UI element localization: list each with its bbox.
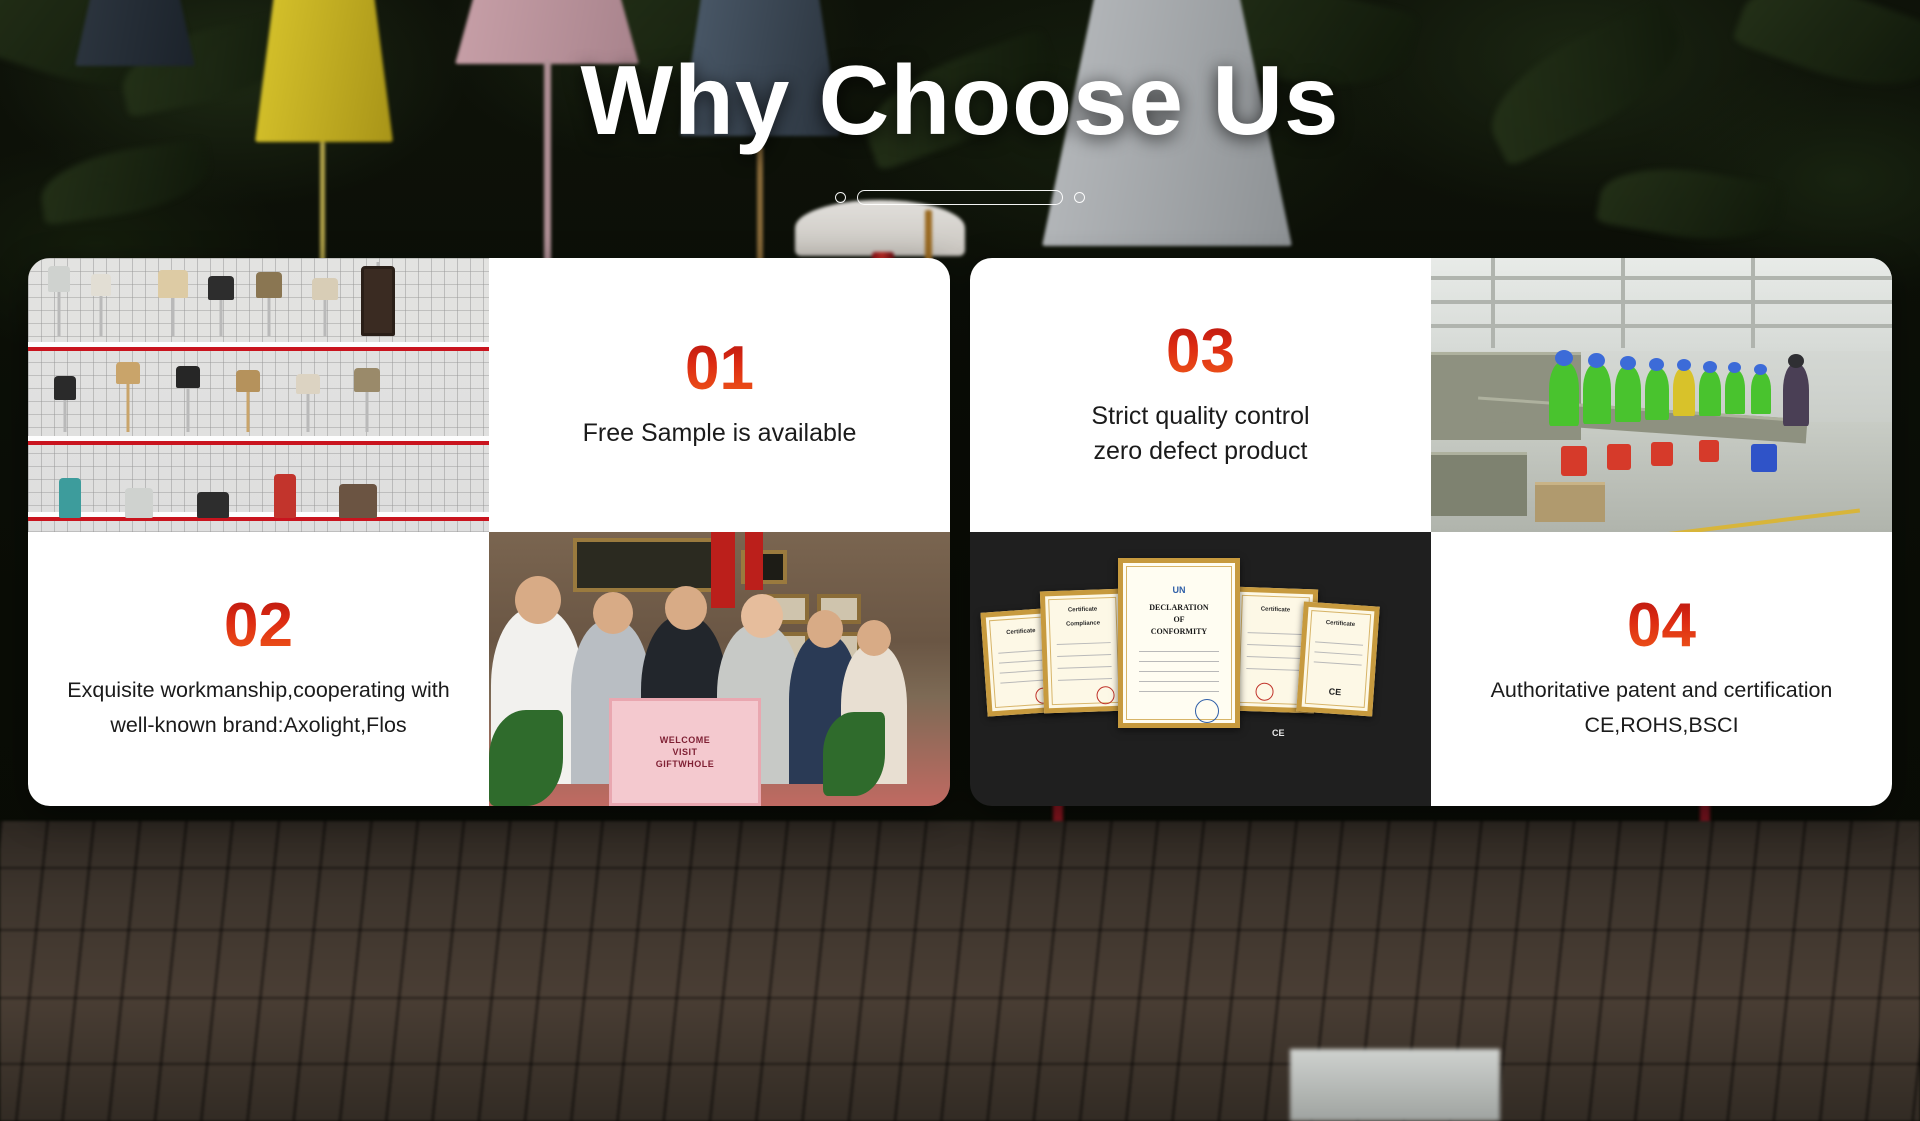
feature-card-01-text: 01 Free Sample is available xyxy=(489,258,950,532)
feature-description-02-line-1: Exquisite workmanship,cooperating with xyxy=(67,673,449,708)
product-shelf-showroom-photo xyxy=(28,258,489,532)
feature-number-01: 01 xyxy=(685,338,754,400)
customer-visit-group-photo: WELCOME VISIT GIFTWHOLE xyxy=(489,532,950,806)
certificates-collection-photo: Certificate Certificate Compliance UN DE… xyxy=(970,532,1431,806)
title-divider xyxy=(835,188,1085,206)
factory-assembly-line-photo xyxy=(1431,258,1892,532)
ce-mark-overlay: CE xyxy=(1272,728,1285,738)
feature-description-04-line-2: CE,ROHS,BSCI xyxy=(1584,708,1738,743)
lamp-base-block xyxy=(1290,1049,1500,1121)
sign-line-2: VISIT xyxy=(672,747,697,757)
feature-description-02-line-2: well-known brand:Axolight,Flos xyxy=(110,708,406,743)
un-badge: UN xyxy=(1123,585,1235,595)
ce-mark-label: CE xyxy=(1328,686,1341,697)
declaration-title-line-3: CONFORMITY xyxy=(1123,627,1235,637)
feature-number-02: 02 xyxy=(224,595,293,657)
header: Why Choose Us xyxy=(0,48,1920,206)
feature-description-04-line-1: Authoritative patent and certification xyxy=(1491,673,1833,708)
wooden-deck xyxy=(0,821,1920,1121)
feature-card-02-text: 02 Exquisite workmanship,cooperating wit… xyxy=(28,532,489,806)
page-title: Why Choose Us xyxy=(0,48,1920,154)
feature-description-01-line-1: Free Sample is available xyxy=(583,416,857,452)
feature-description-03-line-1: Strict quality control xyxy=(1091,399,1309,435)
feature-card-right[interactable]: 03 Strict quality control zero defect pr… xyxy=(970,258,1892,806)
divider-right-dot-icon xyxy=(1074,192,1085,203)
feature-card-04-text: 04 Authoritative patent and certificatio… xyxy=(1431,532,1892,806)
declaration-title-line-2: OF xyxy=(1123,615,1235,625)
sign-line-1: WELCOME xyxy=(660,735,711,745)
feature-cards-grid: 01 Free Sample is available 02 Exquisite… xyxy=(28,258,1892,806)
feature-description-03-line-2: zero defect product xyxy=(1093,434,1307,470)
welcome-visit-sign: WELCOME VISIT GIFTWHOLE xyxy=(609,698,761,806)
divider-left-dot-icon xyxy=(835,192,846,203)
sign-line-3: GIFTWHOLE xyxy=(656,759,715,769)
declaration-title-line-1: DECLARATION xyxy=(1123,603,1235,613)
divider-pill-icon xyxy=(857,190,1063,205)
feature-number-03: 03 xyxy=(1166,321,1235,383)
feature-card-left[interactable]: 01 Free Sample is available 02 Exquisite… xyxy=(28,258,950,806)
feature-card-03-text: 03 Strict quality control zero defect pr… xyxy=(970,258,1431,532)
feature-number-04: 04 xyxy=(1627,595,1696,657)
